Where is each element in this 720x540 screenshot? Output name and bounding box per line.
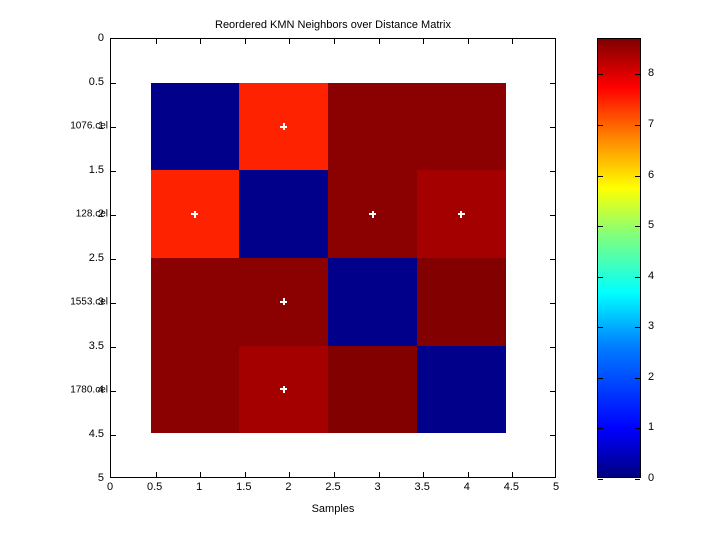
colorbar-tick-mark-right — [635, 74, 640, 75]
y-tick-label: 0 — [74, 32, 104, 44]
colorbar-tick-label: 7 — [648, 118, 654, 130]
colorbar-tick-label: 5 — [648, 219, 654, 231]
colorbar-tick-mark-right — [635, 378, 640, 379]
colorbar-tick-mark — [598, 74, 603, 75]
x-tick-label: 5 — [553, 481, 559, 493]
colorbar-tick-label: 3 — [648, 320, 654, 332]
heatmap-cell[interactable] — [151, 346, 240, 434]
heatmap-cell[interactable] — [417, 83, 506, 171]
y-tick-mark — [111, 171, 116, 172]
y-tick-mark-right — [550, 259, 555, 260]
colorbar-tick-label: 8 — [648, 67, 654, 79]
colorbar-tick-mark — [598, 428, 603, 429]
x-tick-mark-top — [512, 39, 513, 44]
colorbar-tick-mark-right — [635, 479, 640, 480]
y-tick-mark-right — [550, 171, 555, 172]
neighbor-marker-icon — [369, 211, 376, 218]
y-tick-label: 4.5 — [74, 428, 104, 440]
y-tick-mark-right — [550, 303, 555, 304]
x-tick-label: 4 — [464, 481, 470, 493]
colorbar-tick-label: 6 — [648, 169, 654, 181]
x-axis-label: Samples — [110, 503, 556, 515]
heatmap-cell[interactable] — [328, 170, 417, 258]
y-tick-mark-right — [550, 435, 555, 436]
x-tick-label: 0 — [107, 481, 113, 493]
x-tick-mark — [468, 472, 469, 477]
y-tick-mark — [111, 259, 116, 260]
colorbar[interactable] — [597, 38, 641, 478]
matlab-figure-canvas: Reordered KMN Neighbors over Distance Ma… — [0, 0, 720, 540]
y-tick-mark — [111, 435, 116, 436]
colorbar-tick-mark-right — [635, 125, 640, 126]
x-tick-mark — [245, 472, 246, 477]
x-tick-label: 2.5 — [325, 481, 340, 493]
x-tick-mark — [200, 472, 201, 477]
y-tick-label: 5 — [74, 472, 104, 484]
colorbar-tick-mark — [598, 125, 603, 126]
x-tick-mark — [512, 472, 513, 477]
neighbor-marker-icon — [280, 298, 287, 305]
x-tick-label: 3 — [375, 481, 381, 493]
x-tick-label: 2 — [285, 481, 291, 493]
heatmap-cell[interactable] — [417, 258, 506, 346]
neighbor-marker-icon — [280, 386, 287, 393]
y-row-label: 1076.cel — [62, 121, 108, 132]
y-tick-label: 1.5 — [74, 164, 104, 176]
neighbor-marker-icon — [458, 211, 465, 218]
colorbar-tick-label: 4 — [648, 270, 654, 282]
colorbar-tick-mark-right — [635, 176, 640, 177]
x-tick-mark-top — [156, 39, 157, 44]
heatmap-cell[interactable] — [417, 170, 506, 258]
heatmap-cell[interactable] — [151, 170, 240, 258]
x-tick-mark — [334, 472, 335, 477]
x-tick-mark-top — [200, 39, 201, 44]
x-tick-mark — [423, 472, 424, 477]
colorbar-tick-mark-right — [635, 277, 640, 278]
heatmap-cell[interactable] — [151, 258, 240, 346]
y-row-label: 1553.cel — [62, 297, 108, 308]
neighbor-marker-icon — [191, 211, 198, 218]
colorbar-tick-mark — [598, 479, 603, 480]
x-tick-mark-top — [468, 39, 469, 44]
y-tick-label: 0.5 — [74, 76, 104, 88]
colorbar-tick-label: 2 — [648, 371, 654, 383]
x-tick-mark-top — [289, 39, 290, 44]
heatmap-cell[interactable] — [239, 258, 328, 346]
y-tick-mark — [111, 391, 116, 392]
x-tick-label: 1 — [196, 481, 202, 493]
y-tick-mark-right — [550, 347, 555, 348]
x-tick-mark-top — [379, 39, 380, 44]
colorbar-tick-mark-right — [635, 428, 640, 429]
heatmap-cell[interactable] — [239, 346, 328, 434]
y-tick-mark-right — [550, 391, 555, 392]
y-tick-mark — [111, 83, 116, 84]
colorbar-tick-mark-right — [635, 327, 640, 328]
heatmap-cell[interactable] — [328, 83, 417, 171]
colorbar-tick-mark — [598, 327, 603, 328]
x-tick-mark — [379, 472, 380, 477]
colorbar-tick-label: 1 — [648, 421, 654, 433]
colorbar-tick-mark-right — [635, 226, 640, 227]
page-title: Reordered KMN Neighbors over Distance Ma… — [110, 19, 556, 31]
colorbar-tick-mark — [598, 277, 603, 278]
x-tick-mark — [289, 472, 290, 477]
heatmap-cell[interactable] — [328, 258, 417, 346]
y-tick-mark — [111, 303, 116, 304]
y-tick-label: 3.5 — [74, 340, 104, 352]
y-tick-label: 2.5 — [74, 252, 104, 264]
heatmap-cell[interactable] — [239, 83, 328, 171]
x-tick-label: 0.5 — [147, 481, 162, 493]
heatmap-axes[interactable] — [110, 38, 556, 478]
heatmap-cell[interactable] — [417, 346, 506, 434]
colorbar-tick-mark — [598, 226, 603, 227]
x-tick-label: 4.5 — [504, 481, 519, 493]
axes-inner — [111, 39, 555, 477]
x-tick-mark-top — [334, 39, 335, 44]
heatmap-cell[interactable] — [151, 83, 240, 171]
colorbar-tick-mark — [598, 378, 603, 379]
x-tick-label: 3.5 — [415, 481, 430, 493]
y-tick-mark — [111, 215, 116, 216]
x-tick-mark — [156, 472, 157, 477]
y-tick-mark-right — [550, 127, 555, 128]
x-tick-label: 1.5 — [236, 481, 251, 493]
y-tick-mark — [111, 347, 116, 348]
colorbar-tick-mark — [598, 176, 603, 177]
heatmap-cell[interactable] — [239, 170, 328, 258]
y-row-label: 128.cel — [62, 209, 108, 220]
y-tick-mark-right — [550, 83, 555, 84]
neighbor-marker-icon — [280, 123, 287, 130]
y-row-label: 1780.cel — [62, 385, 108, 396]
y-tick-mark-right — [550, 215, 555, 216]
x-tick-mark-top — [423, 39, 424, 44]
heatmap-grid[interactable] — [151, 83, 506, 433]
heatmap-cell[interactable] — [328, 346, 417, 434]
colorbar-tick-label: 0 — [648, 472, 654, 484]
x-tick-mark-top — [245, 39, 246, 44]
y-tick-mark — [111, 127, 116, 128]
